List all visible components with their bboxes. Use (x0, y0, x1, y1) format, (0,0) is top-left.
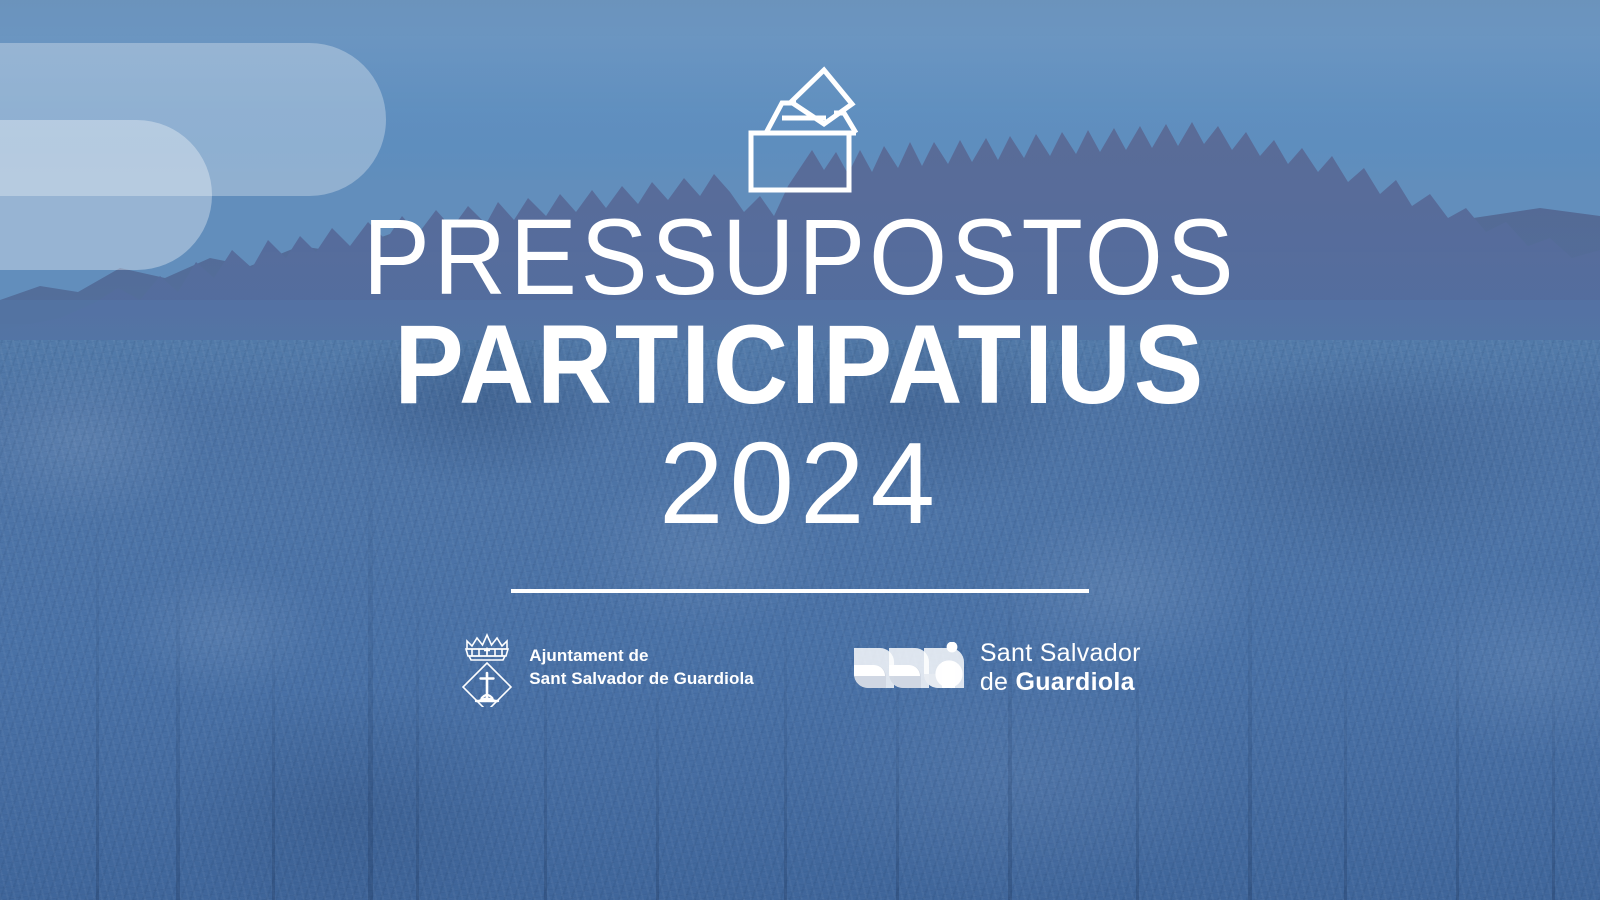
poster-canvas: PRESSUPOSTOS PARTICIPATIUS 2024 (0, 0, 1600, 900)
ballot-box-icon (738, 62, 862, 197)
ajuntament-line1: Ajuntament de (529, 645, 754, 667)
ssg-line2: de Guardiola (980, 668, 1141, 697)
page-title-line2: PARTICIPATIUS (363, 311, 1237, 419)
ssg-logo-text: Sant Salvador de Guardiola (980, 639, 1141, 697)
ajuntament-logo-text: Ajuntament de Sant Salvador de Guardiola (529, 645, 754, 690)
crown-and-diamond-crest-icon (459, 629, 515, 707)
ajuntament-line2: Sant Salvador de Guardiola (529, 668, 754, 690)
divider (511, 589, 1089, 593)
ssg-logo: Sant Salvador de Guardiola (854, 639, 1141, 697)
logo-row: Ajuntament de Sant Salvador de Guardiola (459, 629, 1141, 707)
ssg-line2-light: de (980, 668, 1016, 696)
poster-content: PRESSUPOSTOS PARTICIPATIUS 2024 (0, 0, 1600, 900)
ssg-monogram-icon (854, 642, 964, 694)
ajuntament-logo: Ajuntament de Sant Salvador de Guardiola (459, 629, 754, 707)
page-title-line1: PRESSUPOSTOS (363, 205, 1237, 309)
poster-titles: PRESSUPOSTOS PARTICIPATIUS 2024 (330, 205, 1270, 543)
page-title-year: 2024 (330, 424, 1270, 542)
ssg-line2-bold: Guardiola (1015, 668, 1134, 696)
ssg-line1: Sant Salvador (980, 639, 1141, 668)
